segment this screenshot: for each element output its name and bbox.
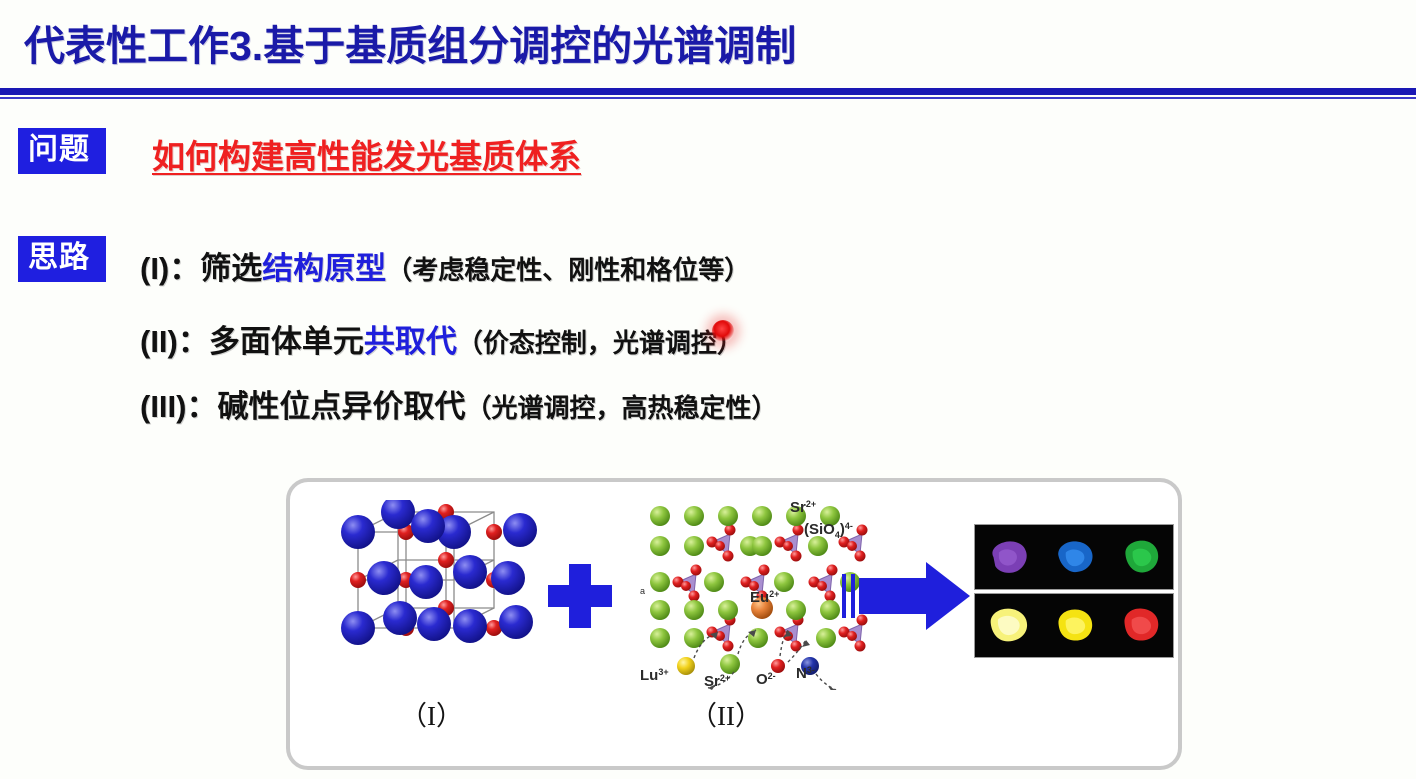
plus-icon [548,564,612,628]
figure-panel: （I） [286,478,1182,770]
phosphor-row-bottom [974,593,1174,659]
title-divider [0,88,1416,100]
approach-1-highlight: 结构原型 [262,251,386,286]
approach-line-3: (III)：碱性位点异价取代（光谱调控，高热稳定性） [140,381,778,426]
divider-bar-thin [0,97,1416,99]
divider-bar-thick [0,88,1416,95]
label-o: O2- [756,671,776,688]
approach-1-main: 筛选 [200,251,262,286]
sr-atom [720,654,740,674]
label-eu: Eu2+ [750,589,779,606]
question-text: 如何构建高性能发光基质体系 [152,130,581,178]
transform-arrow-icon [842,560,972,632]
axis-label-a: a [640,586,645,596]
approach-line-1: (I)：筛选结构原型（考虑稳定性、刚性和格位等） [140,243,750,288]
phosphor-purple [985,537,1031,577]
phosphor-blue [1051,537,1097,577]
crystal-lattice-diagram [330,500,540,680]
figure-caption-ii: （II） [690,694,762,733]
figure-caption-i: （I） [400,694,463,733]
phosphor-pale-yellow [985,605,1031,645]
phosphor-green [1117,537,1163,577]
phosphor-row-top [974,524,1174,590]
approach-1-note: （考虑稳定性、刚性和格位等） [386,255,750,285]
arrow-head [926,562,970,630]
approach-3-note: （光谱调控，高热稳定性） [466,393,778,423]
phosphor-red [1117,605,1163,645]
arrow-shaft [859,578,931,614]
label-n: N3- [796,665,815,682]
approach-3-main: 碱性位点异价取代 [218,389,466,424]
approach-tag: 思路 [18,236,106,282]
phosphor-emission-photos [974,524,1174,658]
approach-2-highlight: 共取代 [364,324,457,359]
approach-1-index: (I)： [140,251,200,286]
approach-line-2: (II)：多面体单元共取代（价态控制，光谱调控） [140,316,743,361]
lu-atom [677,657,695,675]
approach-2-index: (II)： [140,324,209,359]
approach-2-note: （价态控制，光谱调控） [457,328,743,358]
approach-3-index: (III)： [140,389,218,424]
label-sr-top: Sr2+ [790,499,816,516]
approach-2-main: 多面体单元 [209,324,364,359]
plus-vertical-bar [569,564,591,628]
page-title: 代表性工作3.基于基质组分调控的光谱调制 [24,12,796,72]
label-lu: Lu3+ [640,667,669,684]
label-sr-bottom: Sr2+ [704,673,730,690]
phosphor-yellow [1051,605,1097,645]
arrow-tail-bar-1 [842,574,846,618]
arrow-tail-bar-2 [851,574,855,618]
question-tag: 问题 [18,128,106,174]
